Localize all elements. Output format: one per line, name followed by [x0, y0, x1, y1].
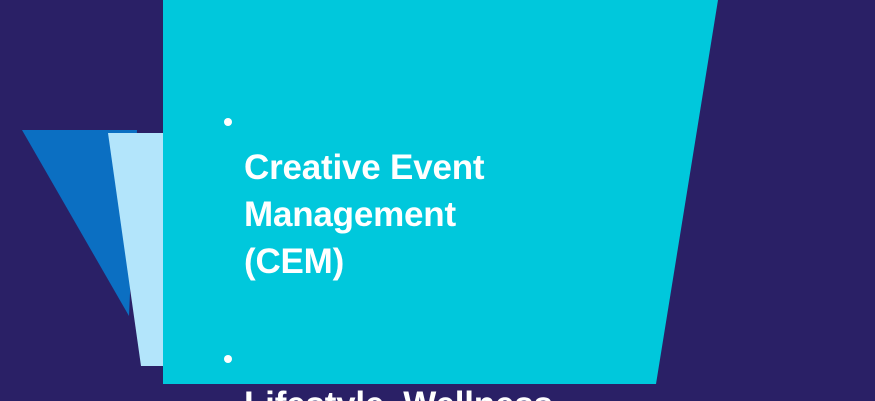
bullet-list: Creative Event Management (CEM) Lifestyl… [216, 97, 686, 401]
list-item: Lifestyle, Wellness, and Leisure (LWL) [216, 334, 686, 401]
slide-canvas: Creative Event Management (CEM) Lifestyl… [0, 0, 875, 401]
bullet-label-lwl: Lifestyle, Wellness, and Leisure (LWL) [244, 381, 686, 401]
list-item: Creative Event Management (CEM) [216, 97, 686, 332]
bullet-label-cem: Creative Event Management (CEM) [244, 144, 686, 285]
